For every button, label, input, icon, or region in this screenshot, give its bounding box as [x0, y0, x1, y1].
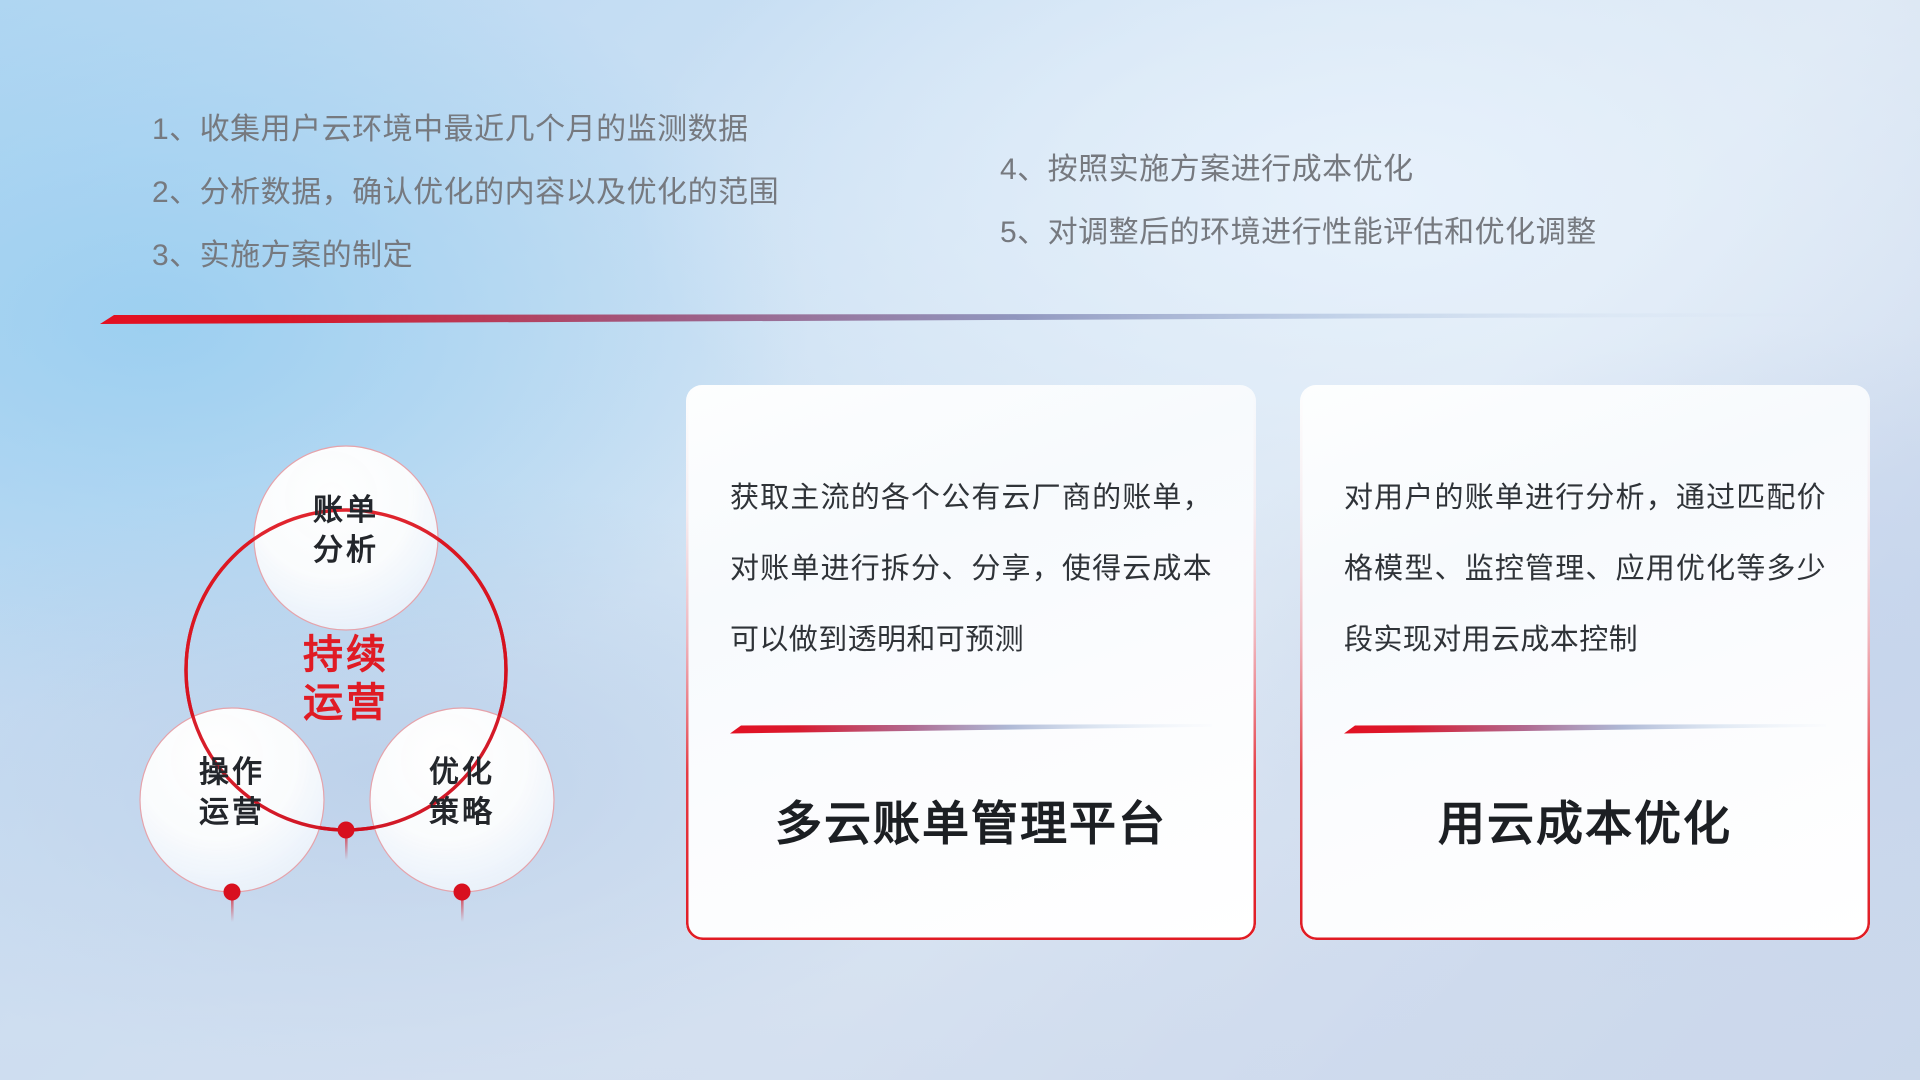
section-divider	[100, 312, 1860, 326]
step-item-1: 1、收集用户云环境中最近几个月的监测数据	[152, 115, 779, 145]
node-label-ops-operation-line1: 操作	[199, 756, 265, 789]
node-label-ops-operation-line2: 运营	[199, 796, 265, 829]
step-column-right: 4、按照实施方案进行成本优化 5、对调整后的环境进行性能评估和优化调整	[1000, 155, 1597, 281]
card-content: 获取主流的各个公有云厂商的账单，对账单进行拆分、分享，使得云成本可以做到透明和可…	[686, 385, 1256, 940]
connector-dot-opt-strategy	[454, 884, 471, 901]
step-item-4: 4、按照实施方案进行成本优化	[1000, 155, 1597, 185]
continuous-operation-diagram: 账单 分析 操作 运营 优化 策略 持续 运营	[90, 350, 680, 950]
step-item-3: 3、实施方案的制定	[152, 241, 779, 271]
center-label-line2: 运营	[303, 681, 389, 725]
diagram-center-label: 持续 运营	[303, 633, 389, 725]
step-item-2: 2、分析数据，确认优化的内容以及优化的范围	[152, 178, 779, 208]
card-body-text: 获取主流的各个公有云厂商的账单，对账单进行拆分、分享，使得云成本可以做到透明和可…	[730, 463, 1212, 676]
step-column-left: 1、收集用户云环境中最近几个月的监测数据 2、分析数据，确认优化的内容以及优化的…	[152, 115, 779, 304]
connector-dot-ops-operation	[224, 884, 241, 901]
feature-card-cloud-cost-optimization[interactable]: 对用户的账单进行分析，通过匹配价格模型、监控管理、应用优化等多少段实现对用云成本…	[1300, 385, 1870, 940]
card-body-text: 对用户的账单进行分析，通过匹配价格模型、监控管理、应用优化等多少段实现对用云成本…	[1344, 463, 1826, 676]
connector-dot-bill-analysis	[338, 822, 355, 839]
node-label-opt-strategy-line1: 优化	[429, 756, 495, 789]
node-label-bill-analysis-line2: 分析	[313, 534, 379, 567]
card-content: 对用户的账单进行分析，通过匹配价格模型、监控管理、应用优化等多少段实现对用云成本…	[1300, 385, 1870, 940]
step-item-5: 5、对调整后的环境进行性能评估和优化调整	[1000, 218, 1597, 248]
node-label-opt-strategy-line2: 策略	[429, 795, 495, 829]
feature-card-multi-cloud-bill-platform[interactable]: 获取主流的各个公有云厂商的账单，对账单进行拆分、分享，使得云成本可以做到透明和可…	[686, 385, 1256, 940]
center-label-line1: 持续	[303, 633, 389, 677]
node-label-bill-analysis-line1: 账单	[313, 494, 379, 527]
